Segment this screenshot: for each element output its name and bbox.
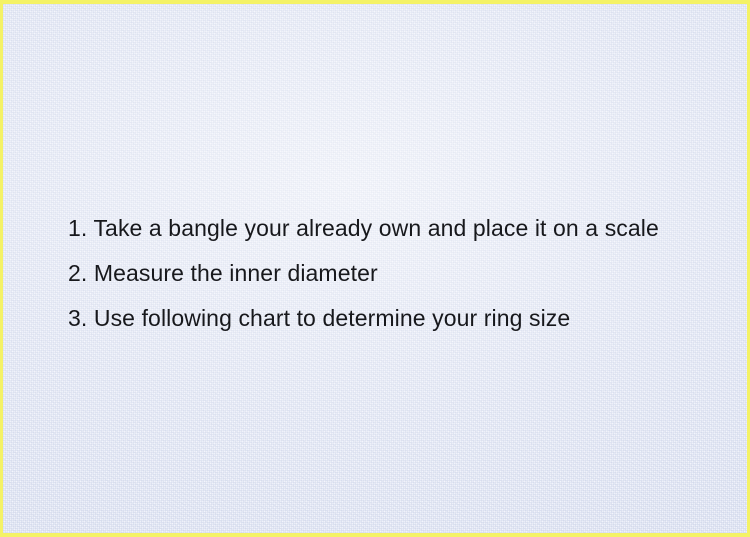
instruction-step-list: 1. Take a bangle your already own and pl…: [68, 206, 708, 341]
instruction-slide: 1. Take a bangle your already own and pl…: [0, 0, 750, 537]
list-item: 2. Measure the inner diameter: [68, 251, 708, 296]
paper-canvas: 1. Take a bangle your already own and pl…: [3, 4, 747, 533]
list-item: 3. Use following chart to determine your…: [68, 296, 708, 341]
list-item: 1. Take a bangle your already own and pl…: [68, 206, 708, 251]
